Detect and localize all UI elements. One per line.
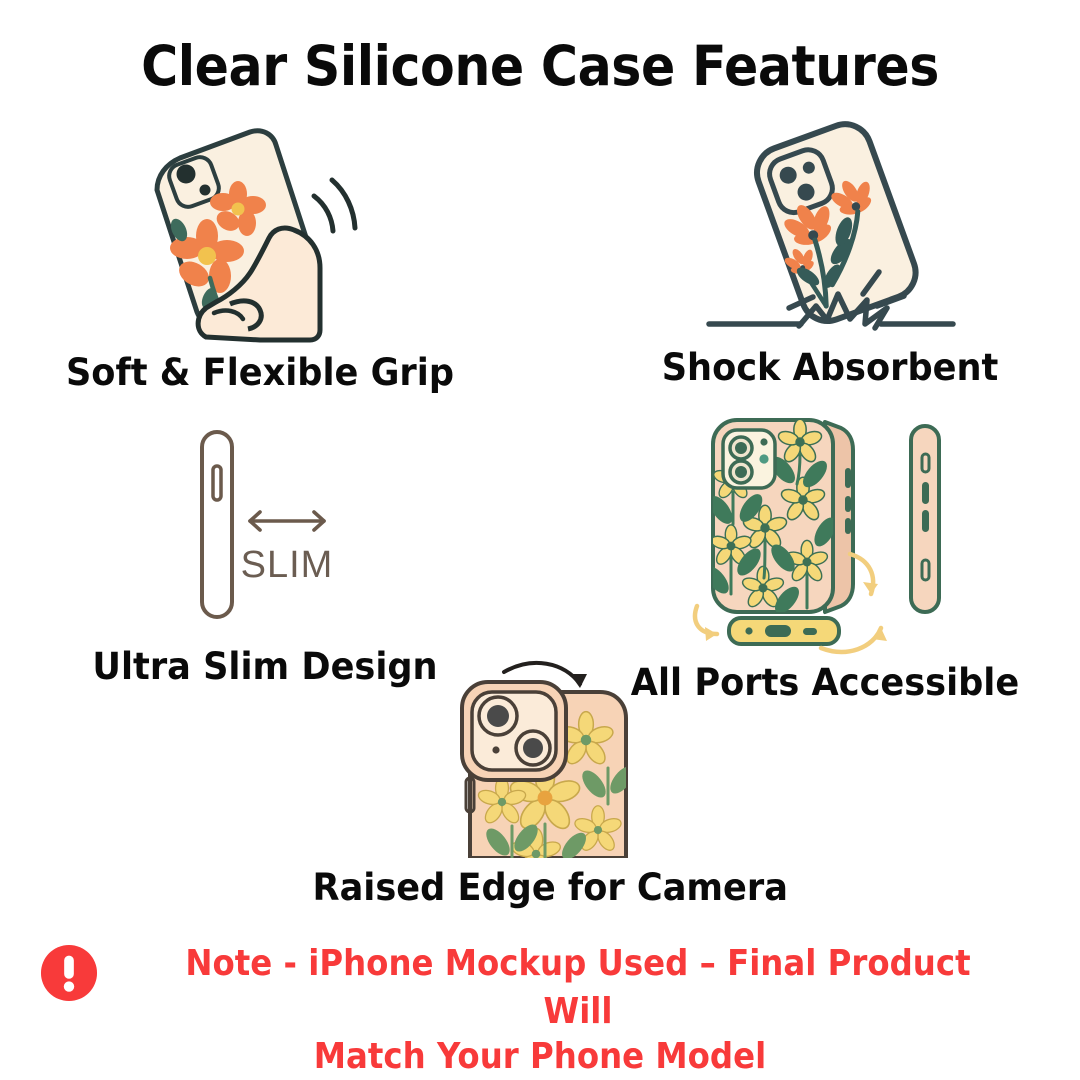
phone-ports-cutouts-icon — [665, 412, 985, 657]
note-text-line2: Match Your Phone Model — [54, 1033, 1026, 1080]
feature-art-camera — [300, 658, 800, 858]
feature-ultra-slim-design: SLIM Ultra Slim Design — [55, 422, 475, 688]
hand-flexing-phone-case-icon — [110, 118, 410, 343]
exclamation-circle-icon — [40, 944, 98, 1002]
feature-art-slim: SLIM — [55, 422, 475, 627]
feature-label-grip: Soft & Flexible Grip — [51, 351, 469, 394]
phone-bottom-edge — [729, 618, 839, 644]
feature-art-grip — [40, 118, 480, 343]
phone-side-profile-slim-icon: SLIM — [150, 422, 380, 627]
raised-camera-edge-icon — [440, 658, 660, 858]
page-title: Clear Silicone Case Features — [43, 34, 1037, 98]
side-port-cutouts — [845, 468, 851, 534]
slim-measure-label: SLIM — [241, 544, 334, 586]
feature-art-shock — [620, 112, 1040, 340]
note-banner: Note - iPhone Mockup Used – Final Produc… — [0, 940, 1080, 1080]
note-text-line1: Note - iPhone Mockup Used – Final Produc… — [162, 940, 994, 1035]
phone-side-rail — [911, 426, 939, 612]
feature-shock-absorbent: Shock Absorbent — [620, 112, 1040, 389]
feature-raised-edge-camera: Raised Edge for Camera — [300, 658, 800, 909]
width-arrow-icon — [250, 512, 324, 530]
feature-label-shock: Shock Absorbent — [631, 346, 1030, 389]
phone-impact-burst-icon — [685, 112, 975, 340]
feature-label-camera: Raised Edge for Camera — [313, 866, 788, 909]
feature-art-ports — [610, 412, 1040, 657]
feature-infographic: Clear Silicone Case Features — [0, 0, 1080, 1080]
feature-soft-flexible-grip: Soft & Flexible Grip — [40, 118, 480, 394]
